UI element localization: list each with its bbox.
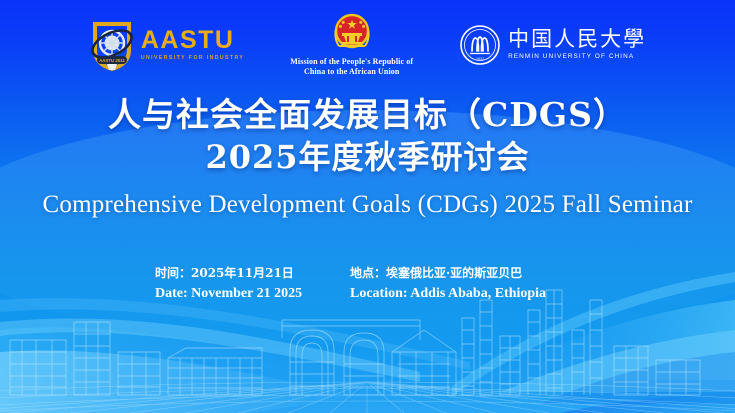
logo-row: AASTU 2011 AASTU UNIVERSITY FOR INDUSTRY xyxy=(0,10,735,80)
china-mission-caption-line1: Mission of the People's Republic of xyxy=(290,57,413,67)
svg-text:1937: 1937 xyxy=(476,57,484,61)
event-date-en: Date: November 21 2025 xyxy=(155,286,350,302)
logo-aastu: AASTU 2011 AASTU UNIVERSITY FOR INDUSTRY xyxy=(89,18,244,72)
logo-renmin-university: 1937 中国人民大學 RENMIN UNIVERSITY OF CHINA xyxy=(459,24,646,66)
title-block: 人与社会全面发展目标（CDGS） 2025年度秋季研讨会 Comprehensi… xyxy=(0,96,735,219)
aastu-shield-logo-icon: AASTU 2011 xyxy=(89,18,135,72)
renmin-name-cn: 中国人民大學 xyxy=(508,29,646,50)
china-mission-caption-line2: China to the African Union xyxy=(290,67,413,77)
event-meta: 时间：2025年11月21日 地点：埃塞俄比亚·亚的斯亚贝巴 Date: Nov… xyxy=(0,264,735,302)
event-time-cn: 时间：2025年11月21日 xyxy=(155,264,350,281)
aastu-tagline: UNIVERSITY FOR INDUSTRY xyxy=(141,56,244,61)
china-national-emblem-icon xyxy=(330,13,374,55)
title-cn-line1: 人与社会全面发展目标（CDGS） xyxy=(0,96,735,135)
renmin-name-en: RENMIN UNIVERSITY OF CHINA xyxy=(508,54,646,60)
meta-row-en: Date: November 21 2025 Location: Addis A… xyxy=(118,286,618,302)
conference-banner: AASTU 2011 AASTU UNIVERSITY FOR INDUSTRY xyxy=(0,0,735,413)
title-cn-line2: 2025年度秋季研讨会 xyxy=(0,137,735,179)
title-en: Comprehensive Development Goals (CDGs) 2… xyxy=(0,191,735,219)
logo-china-mission: Mission of the People's Republic of Chin… xyxy=(290,13,413,77)
svg-text:AASTU 2011: AASTU 2011 xyxy=(99,58,125,63)
event-location-cn: 地点：埃塞俄比亚·亚的斯亚贝巴 xyxy=(350,264,580,281)
aastu-wordmark: AASTU xyxy=(141,28,244,53)
meta-row-cn: 时间：2025年11月21日 地点：埃塞俄比亚·亚的斯亚贝巴 xyxy=(118,264,618,281)
event-location-en: Location: Addis Ababa, Ethiopia xyxy=(350,286,580,302)
china-mission-caption: Mission of the People's Republic of Chin… xyxy=(290,57,413,77)
renmin-university-seal-icon: 1937 xyxy=(459,24,501,66)
